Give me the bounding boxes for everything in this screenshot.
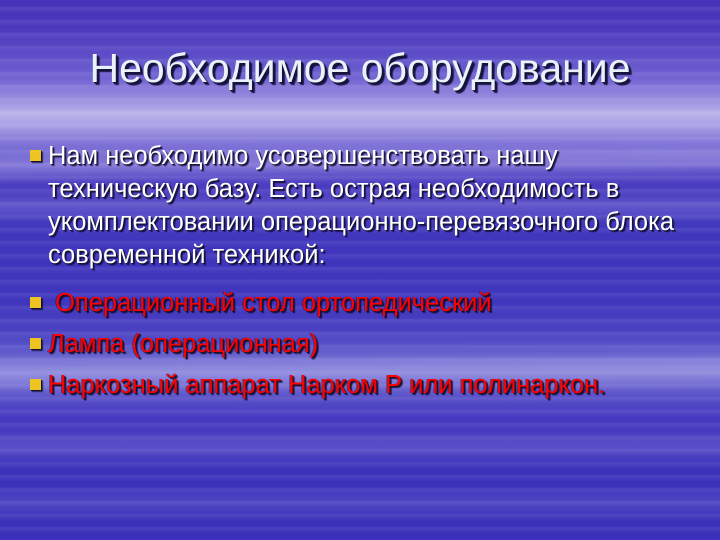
square-bullet-icon	[30, 297, 41, 308]
slide-body: Нам необходимо усовершенствовать нашу те…	[30, 140, 696, 402]
bullet-text-3: Наркозный аппарат Нарком Р или полинарко…	[48, 369, 696, 402]
list-item: Наркозный аппарат Нарком Р или полинарко…	[30, 369, 696, 402]
square-bullet-icon	[30, 379, 41, 390]
presentation-slide: Необходимое оборудование Нам необходимо …	[0, 0, 720, 540]
list-item: Операционный стол ортопедический	[30, 287, 696, 320]
square-bullet-icon	[30, 150, 41, 161]
cloud-wisp-5	[0, 490, 720, 516]
bullet-text-1: Операционный стол ортопедический	[48, 287, 696, 320]
slide-title: Необходимое оборудование	[0, 44, 720, 92]
square-bullet-icon	[30, 338, 41, 349]
bullet-text-0: Нам необходимо усовершенствовать нашу те…	[48, 140, 696, 272]
bullet-text-2: Лампа (операционная)	[48, 328, 696, 361]
list-item: Лампа (операционная)	[30, 328, 696, 361]
cloud-wisp-4	[0, 432, 720, 462]
list-item: Нам необходимо усовершенствовать нашу те…	[30, 140, 696, 272]
